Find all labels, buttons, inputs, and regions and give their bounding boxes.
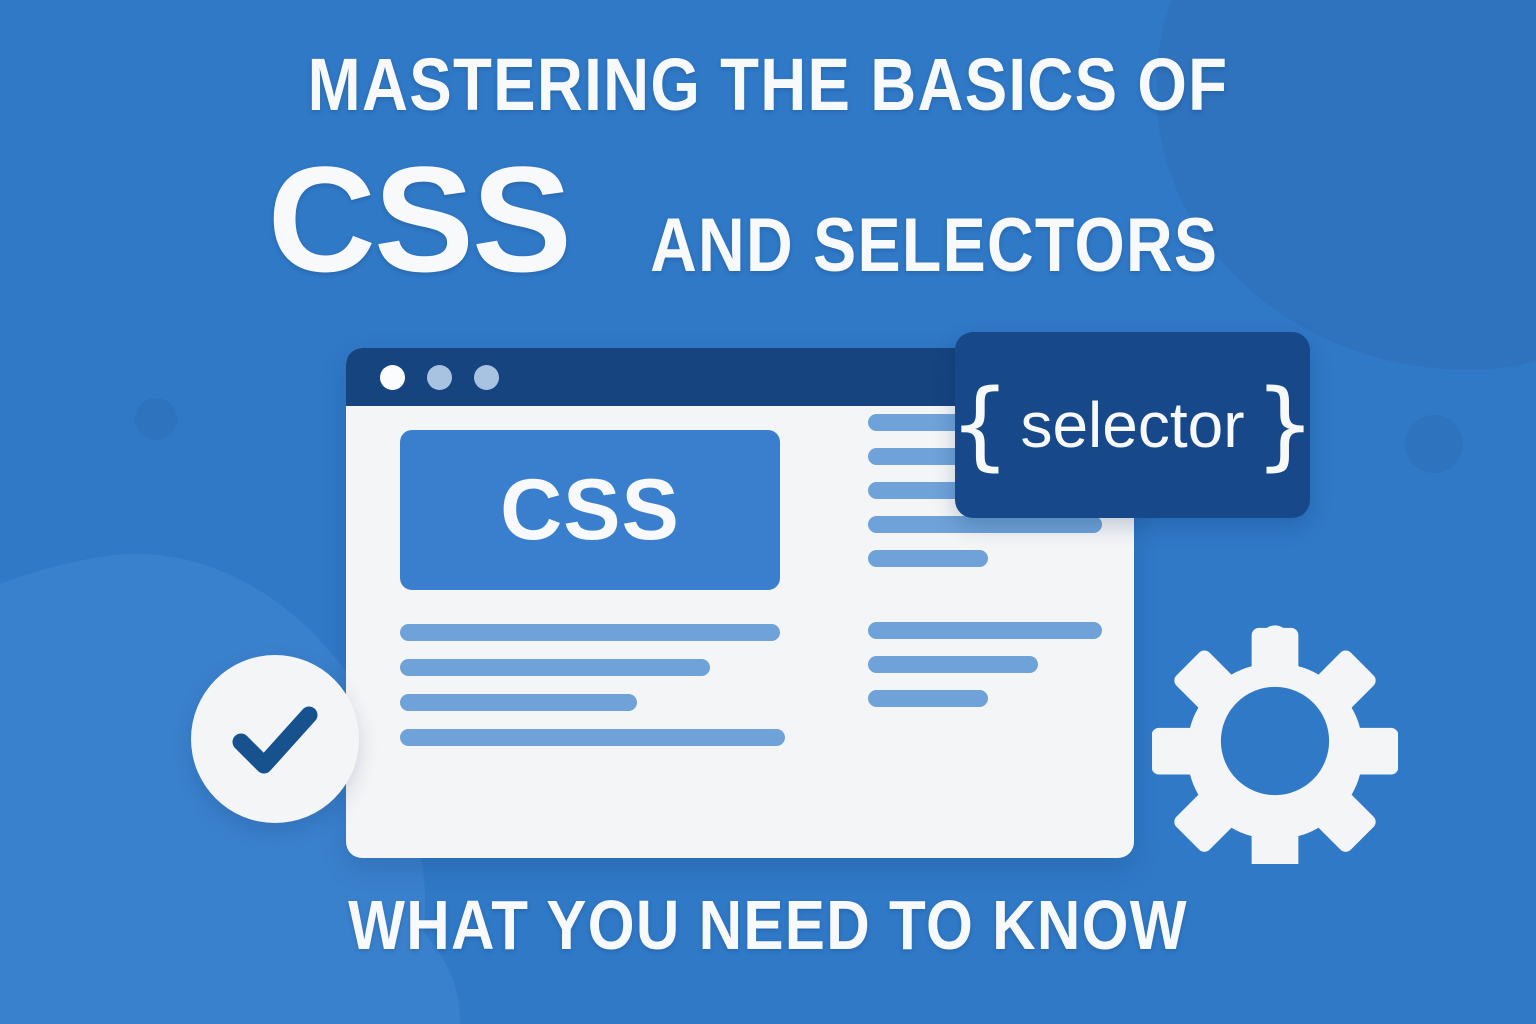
content-bar [868, 622, 1102, 639]
selector-badge-label: selector [1020, 393, 1244, 457]
gear-badge [1152, 618, 1398, 864]
close-brace-icon: } [1255, 377, 1316, 473]
headline-line-1: MASTERING THE BASICS OF [108, 48, 1429, 122]
content-bar [868, 656, 1038, 673]
content-bars-left [400, 624, 785, 764]
selector-badge: { selector } [955, 332, 1310, 518]
content-bar [400, 659, 710, 676]
window-dot-white-icon[interactable] [380, 365, 405, 390]
css-card: CSS [400, 430, 780, 590]
headline-word-and-selectors: AND SELECTORS [650, 208, 1218, 284]
background-dot-left [135, 398, 177, 440]
caption: WHAT YOU NEED TO KNOW [108, 890, 1429, 960]
background-dot-right [1405, 415, 1463, 473]
content-bar [868, 550, 988, 567]
gear-icon [1152, 618, 1398, 864]
headline: MASTERING THE BASICS OF CSS AND SELECTOR… [0, 48, 1536, 294]
window-dot-blue-1-icon[interactable] [427, 365, 452, 390]
content-bar [868, 690, 988, 707]
window-dot-blue-2-icon[interactable] [474, 365, 499, 390]
poster-canvas: MASTERING THE BASICS OF CSS AND SELECTOR… [0, 0, 1536, 1024]
headline-line-2: CSS AND SELECTORS [0, 144, 1536, 294]
open-brace-icon: { [949, 377, 1010, 473]
headline-word-css: CSS [268, 144, 570, 294]
content-bar [400, 624, 780, 641]
content-bar [868, 516, 1102, 533]
check-icon [221, 685, 329, 793]
check-badge [191, 655, 359, 823]
content-bar [400, 729, 785, 746]
content-bar [400, 694, 637, 711]
css-card-label: CSS [500, 467, 680, 553]
